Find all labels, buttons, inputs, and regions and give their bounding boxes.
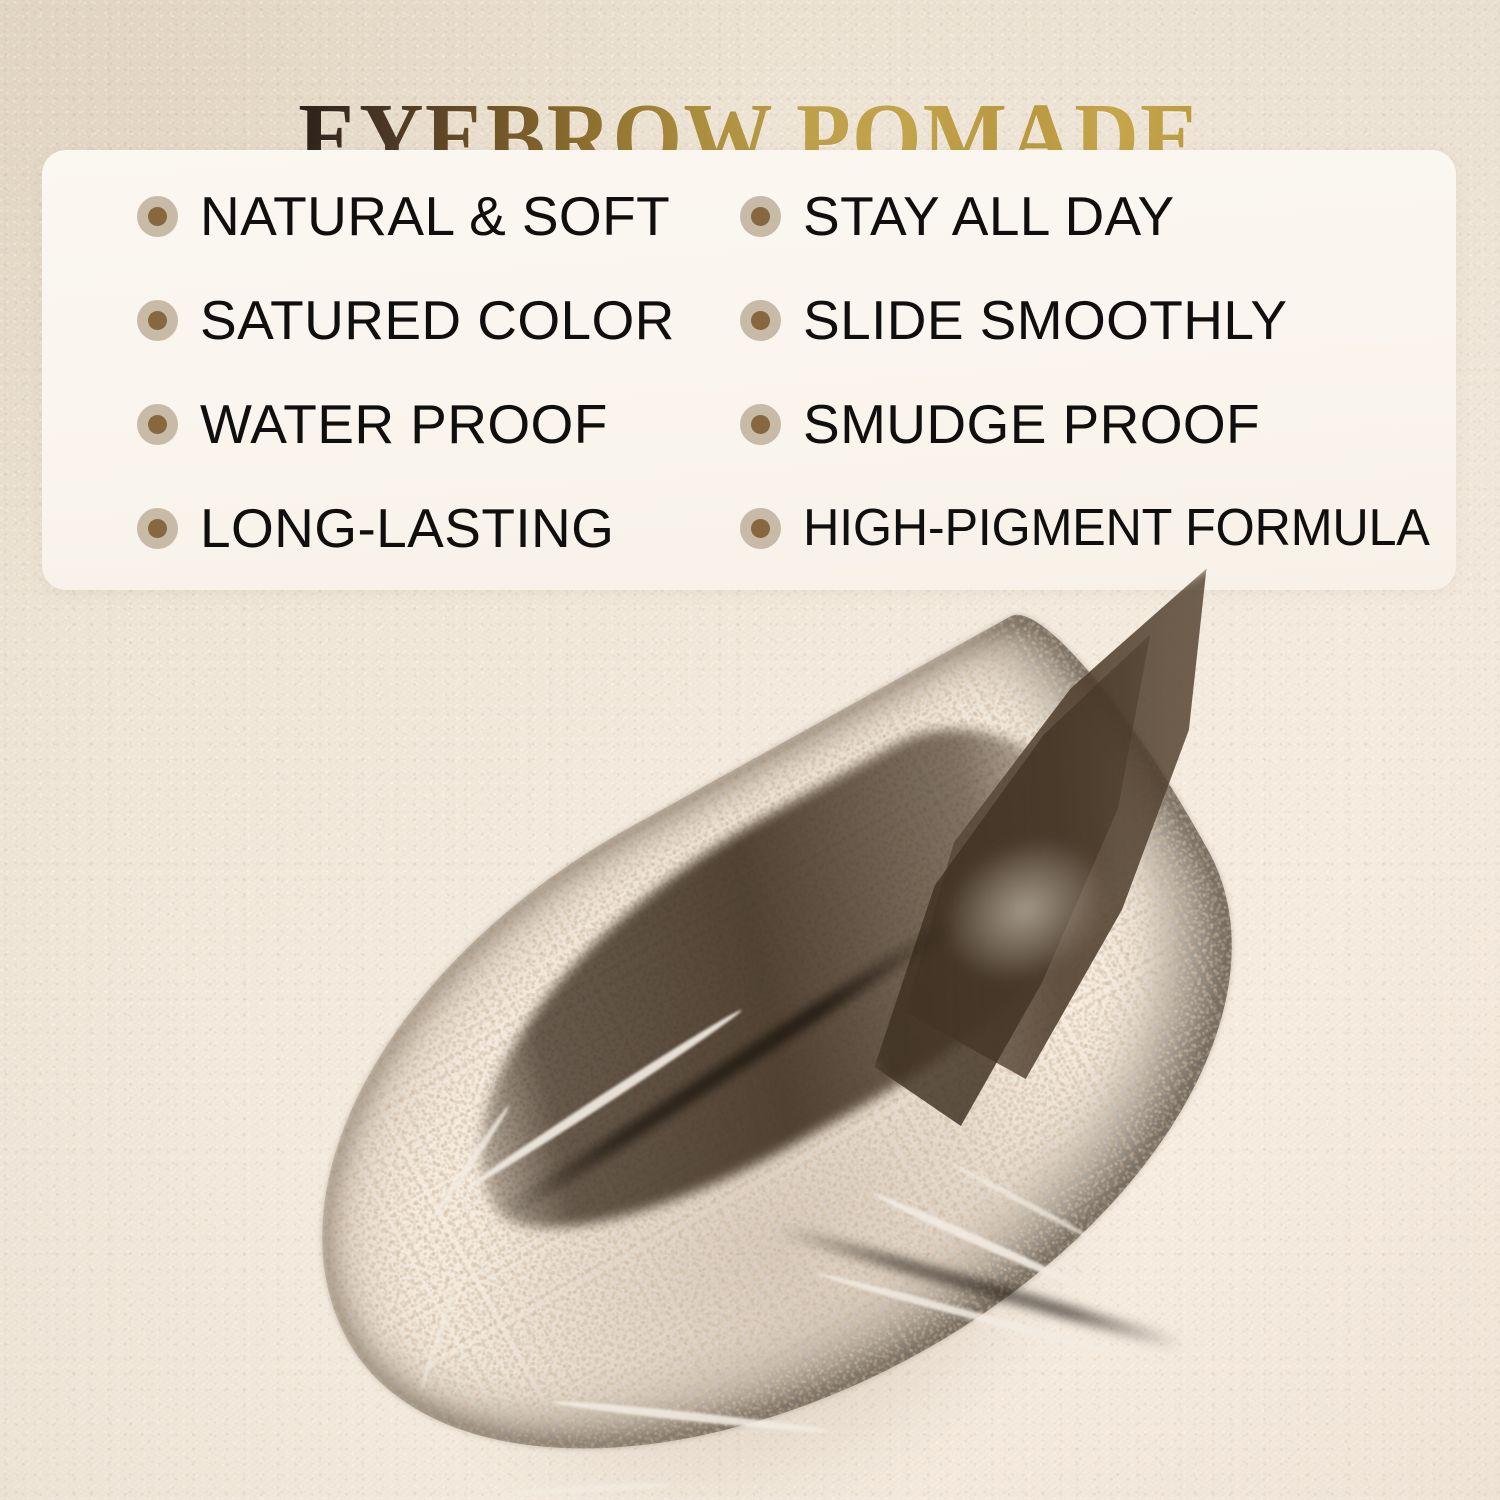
- feature-label: STAY ALL DAY: [803, 184, 1175, 248]
- feature-label: HIGH-PIGMENT FORMULA: [803, 498, 1430, 558]
- bullet-dot-icon: [740, 300, 781, 341]
- bullet-dot-icon: [137, 196, 178, 237]
- bullet-dot-icon: [740, 508, 781, 549]
- bullet-dot-icon: [740, 196, 781, 237]
- bullet-dot-icon: [137, 404, 178, 445]
- pomade-swatch-image: [250, 640, 1370, 1500]
- feature-label: SATURED COLOR: [200, 288, 675, 352]
- feature-label: NATURAL & SOFT: [200, 184, 670, 248]
- feature-label: SLIDE SMOOTHLY: [803, 288, 1287, 352]
- feature-card: NATURAL & SOFT STAY ALL DAY SATURED COLO…: [42, 150, 1456, 590]
- feature-item-slide-smoothly: SLIDE SMOOTHLY: [730, 288, 1456, 352]
- feature-grid: NATURAL & SOFT STAY ALL DAY SATURED COLO…: [42, 150, 1456, 590]
- product-marketing-image: EYEBROW POMADE NATURAL & SOFT STAY ALL D…: [0, 0, 1500, 1500]
- feature-item-long-lasting: LONG-LASTING: [42, 496, 730, 560]
- feature-item-smudge-proof: SMUDGE PROOF: [730, 392, 1456, 456]
- feature-item-natural-soft: NATURAL & SOFT: [42, 184, 730, 248]
- bullet-dot-icon: [137, 508, 178, 549]
- feature-item-water-proof: WATER PROOF: [42, 392, 730, 456]
- feature-item-high-pigment-formula: HIGH-PIGMENT FORMULA: [730, 498, 1456, 558]
- bullet-dot-icon: [740, 404, 781, 445]
- feature-label: SMUDGE PROOF: [803, 392, 1260, 456]
- feature-label: WATER PROOF: [200, 392, 608, 456]
- feature-item-satured-color: SATURED COLOR: [42, 288, 730, 352]
- feature-item-stay-all-day: STAY ALL DAY: [730, 184, 1456, 248]
- bullet-dot-icon: [137, 300, 178, 341]
- feature-label: LONG-LASTING: [200, 496, 614, 560]
